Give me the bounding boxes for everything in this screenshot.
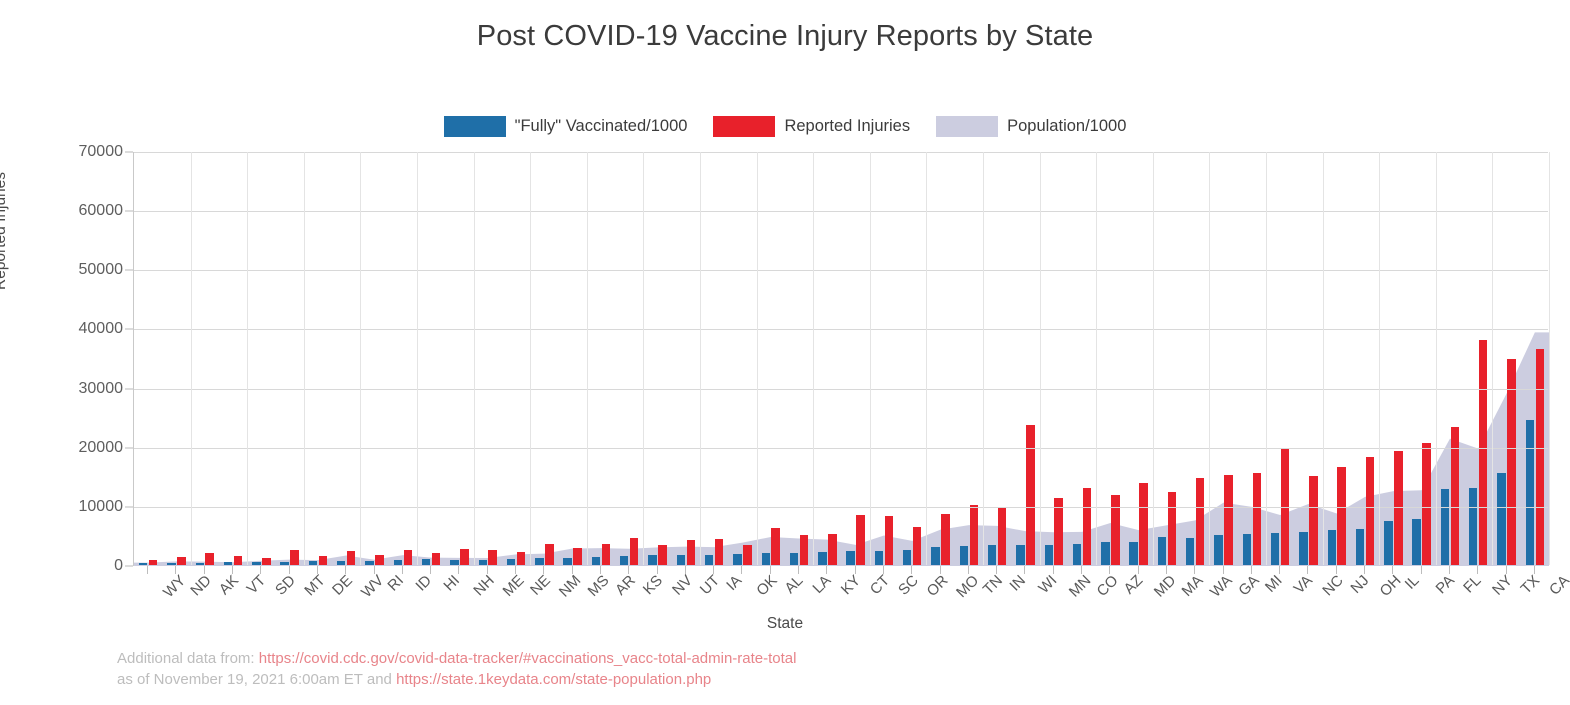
bar-injuries[interactable]	[1253, 473, 1261, 565]
x-gridline	[1379, 152, 1380, 565]
bar-group[interactable]	[1068, 152, 1096, 565]
bar-vaccinated[interactable]	[1101, 542, 1109, 565]
bar-vaccinated[interactable]	[1469, 488, 1477, 565]
bar-vaccinated[interactable]	[1214, 535, 1222, 565]
x-tick-label-ct: CT	[866, 572, 892, 598]
bar-vaccinated[interactable]	[507, 559, 515, 565]
bar-group[interactable]	[1209, 152, 1237, 565]
population-data-link[interactable]: https://state.1keydata.com/state-populat…	[396, 671, 711, 688]
y-gridline	[134, 329, 1548, 330]
bar-injuries[interactable]	[205, 553, 213, 565]
bar-group[interactable]	[247, 152, 275, 565]
bar-group[interactable]	[757, 152, 785, 565]
legend-swatch-population	[936, 116, 998, 137]
x-tick-label-nm: NM	[556, 572, 585, 601]
bar-group[interactable]	[445, 152, 473, 565]
bar-group[interactable]	[1436, 152, 1464, 565]
x-gridline	[757, 152, 758, 565]
bar-vaccinated[interactable]	[1271, 533, 1279, 565]
y-gridline	[134, 270, 1548, 271]
bar-vaccinated[interactable]	[1497, 473, 1505, 565]
bar-injuries[interactable]	[771, 528, 779, 565]
x-tick-label-ny: NY	[1489, 572, 1516, 599]
bar-vaccinated[interactable]	[337, 561, 345, 565]
plot-area	[133, 152, 1548, 566]
x-tick-label-id: ID	[412, 572, 435, 595]
x-tick-label-az: AZ	[1121, 572, 1147, 598]
bar-injuries[interactable]	[941, 514, 949, 565]
bar-group[interactable]	[842, 152, 870, 565]
x-tick-label-nd: ND	[188, 572, 215, 599]
x-tick-label-wi: WI	[1036, 572, 1061, 597]
bar-vaccinated[interactable]	[309, 561, 317, 565]
x-gridline	[926, 152, 927, 565]
bar-group[interactable]	[1125, 152, 1153, 565]
bar-injuries[interactable]	[998, 508, 1006, 565]
chart-legend: "Fully" Vaccinated/1000Reported Injuries…	[0, 116, 1570, 137]
bar-group[interactable]	[672, 152, 700, 565]
bar-vaccinated[interactable]	[280, 562, 288, 565]
bar-group[interactable]	[219, 152, 247, 565]
x-tick-label-sc: SC	[895, 572, 922, 599]
x-tick-label-va: VA	[1291, 572, 1316, 597]
legend-item-vaccinated[interactable]: "Fully" Vaccinated/1000	[444, 116, 688, 137]
x-tick-label-ut: UT	[697, 572, 723, 598]
x-tick-label-tx: TX	[1517, 572, 1543, 598]
bar-vaccinated[interactable]	[479, 560, 487, 565]
bar-injuries[interactable]	[970, 505, 978, 565]
y-tick-mark	[125, 329, 133, 330]
x-tick-label-nj: NJ	[1347, 572, 1372, 597]
bar-group[interactable]	[1294, 152, 1322, 565]
bar-group[interactable]	[1266, 152, 1294, 565]
x-tick-label-ak: AK	[216, 572, 242, 598]
bar-vaccinated[interactable]	[1243, 534, 1251, 565]
legend-swatch-vaccinated	[444, 116, 506, 137]
x-tick-label-pa: PA	[1432, 572, 1457, 597]
bar-vaccinated[interactable]	[394, 560, 402, 565]
bar-vaccinated[interactable]	[139, 563, 147, 565]
bar-group[interactable]	[1492, 152, 1520, 565]
y-tick-label: 40000	[79, 320, 124, 338]
x-gridline	[983, 152, 984, 565]
footnote-line-1: Additional data from: https://covid.cdc.…	[117, 648, 797, 669]
x-tick-label-la: LA	[809, 572, 834, 597]
bar-group[interactable]	[1464, 152, 1492, 565]
x-tick-label-fl: FL	[1460, 572, 1484, 596]
x-gridline	[1153, 152, 1154, 565]
x-axis-title: State	[0, 615, 1570, 633]
bar-injuries[interactable]	[460, 549, 468, 565]
bar-injuries[interactable]	[1394, 451, 1402, 565]
y-gridline	[134, 211, 1548, 212]
bar-group[interactable]	[162, 152, 190, 565]
x-gridline	[1492, 152, 1493, 565]
x-gridline	[643, 152, 644, 565]
bar-injuries[interactable]	[1366, 457, 1374, 565]
x-gridline	[813, 152, 814, 565]
y-tick-label: 10000	[79, 498, 124, 516]
chart-root: Post COVID-19 Vaccine Injury Reports by …	[0, 0, 1570, 705]
bar-vaccinated[interactable]	[960, 546, 968, 565]
bar-group[interactable]	[983, 152, 1011, 565]
x-tick-label-tn: TN	[980, 572, 1006, 598]
bar-vaccinated[interactable]	[224, 562, 232, 565]
bar-injuries[interactable]	[319, 556, 327, 565]
y-tick-mark	[125, 566, 133, 567]
y-tick-mark	[125, 506, 133, 507]
x-tick-label-mt: MT	[301, 572, 328, 599]
y-gridline	[134, 389, 1548, 390]
bar-vaccinated[interactable]	[450, 560, 458, 565]
bar-group[interactable]	[1040, 152, 1068, 565]
bar-vaccinated[interactable]	[1186, 538, 1194, 565]
bar-group[interactable]	[1153, 152, 1181, 565]
y-tick-mark	[125, 152, 133, 153]
x-gridline	[1436, 152, 1437, 565]
x-gridline	[700, 152, 701, 565]
bar-vaccinated[interactable]	[988, 545, 996, 565]
footnote: Additional data from: https://covid.cdc.…	[117, 648, 797, 690]
x-gridline	[247, 152, 248, 565]
bar-group[interactable]	[332, 152, 360, 565]
x-tick-label-me: ME	[499, 572, 527, 600]
x-tick-label-wy: WY	[160, 572, 189, 601]
bar-injuries[interactable]	[1139, 483, 1147, 565]
bar-injuries[interactable]	[347, 551, 355, 565]
x-tick-label-ma: MA	[1179, 572, 1207, 600]
bar-group[interactable]	[813, 152, 841, 565]
bar-vaccinated[interactable]	[196, 563, 204, 565]
bar-vaccinated[interactable]	[563, 558, 571, 565]
bar-group[interactable]	[474, 152, 502, 565]
x-gridline	[1549, 152, 1550, 565]
x-axis-labels: WYNDAKVTSDMTDEWVRIIDHINHMENENMMSARKSNVUT…	[133, 572, 1548, 616]
bar-group[interactable]	[276, 152, 304, 565]
bar-group[interactable]	[502, 152, 530, 565]
bar-injuries[interactable]	[602, 544, 610, 565]
bar-group[interactable]	[1238, 152, 1266, 565]
bar-group[interactable]	[1408, 152, 1436, 565]
plot-wrapper	[133, 152, 1548, 566]
bar-injuries[interactable]	[290, 550, 298, 565]
x-tick-label-md: MD	[1150, 572, 1179, 601]
x-tick-label-al: AL	[781, 572, 806, 597]
bar-group[interactable]	[559, 152, 587, 565]
bar-injuries[interactable]	[1507, 359, 1515, 565]
bar-injuries[interactable]	[1309, 476, 1317, 565]
bar-vaccinated[interactable]	[1328, 530, 1336, 565]
x-gridline	[870, 152, 871, 565]
bar-group[interactable]	[1379, 152, 1407, 565]
bar-injuries[interactable]	[545, 544, 553, 565]
bar-group[interactable]	[587, 152, 615, 565]
x-tick-label-or: OR	[924, 572, 952, 600]
bar-group[interactable]	[530, 152, 558, 565]
bar-vaccinated[interactable]	[620, 556, 628, 565]
footnote-line-2: as of November 19, 2021 6:00am ET and ht…	[117, 669, 797, 690]
bar-group[interactable]	[304, 152, 332, 565]
x-tick-label-wa: WA	[1207, 572, 1236, 601]
x-tick-label-ky: KY	[838, 572, 864, 598]
bar-injuries[interactable]	[1026, 425, 1034, 565]
bar-injuries[interactable]	[1083, 488, 1091, 565]
bar-injuries[interactable]	[573, 548, 581, 565]
bar-group[interactable]	[1181, 152, 1209, 565]
bar-vaccinated[interactable]	[1073, 544, 1081, 565]
bar-vaccinated[interactable]	[167, 563, 175, 565]
bar-group[interactable]	[1351, 152, 1379, 565]
legend-label-injuries: Reported Injuries	[784, 117, 910, 136]
bar-vaccinated[interactable]	[903, 550, 911, 565]
x-tick-label-nh: NH	[471, 572, 498, 599]
x-tick-label-il: IL	[1402, 572, 1423, 593]
bar-group[interactable]	[643, 152, 671, 565]
bar-injuries[interactable]	[262, 558, 270, 565]
bar-injuries[interactable]	[1337, 467, 1345, 565]
x-tick-label-ca: CA	[1546, 572, 1570, 599]
x-gridline	[1040, 152, 1041, 565]
bar-injuries[interactable]	[1536, 349, 1544, 565]
bar-group[interactable]	[389, 152, 417, 565]
y-axis-title: Reported Injuries	[0, 172, 10, 290]
footnote-line-1-prefix: Additional data from:	[117, 650, 259, 667]
y-tick-mark	[125, 388, 133, 389]
bar-group[interactable]	[870, 152, 898, 565]
y-tick-label: 60000	[79, 202, 124, 220]
bar-vaccinated[interactable]	[790, 553, 798, 565]
bar-injuries[interactable]	[404, 550, 412, 565]
bar-vaccinated[interactable]	[1356, 529, 1364, 565]
x-gridline	[360, 152, 361, 565]
bar-vaccinated[interactable]	[1384, 521, 1392, 565]
bar-vaccinated[interactable]	[592, 557, 600, 565]
legend-item-population[interactable]: Population/1000	[936, 116, 1126, 137]
bar-injuries[interactable]	[517, 552, 525, 565]
bar-group[interactable]	[955, 152, 983, 565]
bar-injuries[interactable]	[488, 550, 496, 565]
footnote-line-2-prefix: as of November 19, 2021 6:00am ET and	[117, 671, 396, 688]
bar-vaccinated[interactable]	[1526, 420, 1534, 565]
bar-vaccinated[interactable]	[1299, 532, 1307, 565]
bar-vaccinated[interactable]	[422, 559, 430, 565]
x-tick-label-hi: HI	[441, 572, 464, 595]
legend-swatch-injuries	[713, 116, 775, 137]
x-tick-label-mn: MN	[1066, 572, 1095, 601]
x-tick-label-vt: VT	[244, 572, 270, 598]
x-tick-label-ri: RI	[384, 572, 407, 595]
x-gridline	[1096, 152, 1097, 565]
x-tick-label-ks: KS	[640, 572, 666, 598]
x-tick-label-oh: OH	[1377, 572, 1405, 600]
bar-injuries[interactable]	[1111, 495, 1119, 565]
bar-injuries[interactable]	[828, 534, 836, 565]
y-tick-label: 30000	[79, 380, 124, 398]
y-gridline	[134, 448, 1548, 449]
x-tick-label-de: DE	[329, 572, 356, 599]
bar-vaccinated[interactable]	[818, 552, 826, 565]
y-tick-mark	[125, 270, 133, 271]
bar-group[interactable]	[1011, 152, 1039, 565]
bar-vaccinated[interactable]	[1129, 542, 1137, 565]
bar-vaccinated[interactable]	[1016, 545, 1024, 565]
bar-vaccinated[interactable]	[1158, 537, 1166, 565]
bar-injuries[interactable]	[149, 560, 157, 565]
x-gridline	[587, 152, 588, 565]
bar-injuries[interactable]	[630, 538, 638, 566]
bar-vaccinated[interactable]	[677, 555, 685, 565]
bar-vaccinated[interactable]	[705, 555, 713, 565]
bar-injuries[interactable]	[375, 555, 383, 565]
y-tick-label: 70000	[79, 143, 124, 161]
bar-group[interactable]	[417, 152, 445, 565]
x-gridline	[1323, 152, 1324, 565]
x-tick-label-ia: IA	[723, 572, 745, 594]
bar-vaccinated[interactable]	[1441, 489, 1449, 565]
bar-group[interactable]	[926, 152, 954, 565]
bar-injuries[interactable]	[658, 545, 666, 565]
legend-item-injuries[interactable]: Reported Injuries	[713, 116, 910, 137]
bar-vaccinated[interactable]	[875, 551, 883, 565]
bar-injuries[interactable]	[913, 527, 921, 565]
x-tick-label-ok: OK	[754, 572, 781, 599]
bar-injuries[interactable]	[1479, 340, 1487, 565]
x-tick-label-co: CO	[1094, 572, 1122, 600]
bar-injuries[interactable]	[800, 535, 808, 565]
bar-injuries[interactable]	[177, 557, 185, 565]
y-tick-mark	[125, 211, 133, 212]
y-tick-mark	[125, 447, 133, 448]
x-tick-label-nc: NC	[1320, 572, 1347, 599]
bar-group[interactable]	[728, 152, 756, 565]
y-tick-label: 0	[114, 557, 123, 575]
x-gridline	[304, 152, 305, 565]
bar-vaccinated[interactable]	[762, 553, 770, 565]
bar-injuries[interactable]	[687, 540, 695, 565]
bar-injuries[interactable]	[885, 516, 893, 565]
x-gridline	[530, 152, 531, 565]
x-tick-label-ms: MS	[584, 572, 612, 600]
bar-injuries[interactable]	[743, 545, 751, 565]
x-tick-label-wv: WV	[358, 572, 387, 601]
bar-vaccinated[interactable]	[365, 561, 373, 565]
x-tick-label-mi: MI	[1262, 572, 1286, 596]
bar-injuries[interactable]	[1168, 492, 1176, 565]
legend-label-vaccinated: "Fully" Vaccinated/1000	[515, 117, 688, 136]
legend-label-population: Population/1000	[1007, 117, 1126, 136]
x-tick-label-ne: NE	[527, 572, 554, 599]
bar-injuries[interactable]	[1054, 498, 1062, 565]
bar-group[interactable]	[360, 152, 388, 565]
chart-title: Post COVID-19 Vaccine Injury Reports by …	[0, 20, 1570, 53]
bar-injuries[interactable]	[432, 553, 440, 565]
x-tick-label-ar: AR	[612, 572, 639, 599]
bar-vaccinated[interactable]	[535, 558, 543, 565]
bar-vaccinated[interactable]	[648, 555, 656, 565]
bar-vaccinated[interactable]	[733, 554, 741, 565]
x-gridline	[1266, 152, 1267, 565]
x-tick-label-sd: SD	[272, 572, 299, 599]
x-gridline	[191, 152, 192, 565]
x-gridline	[417, 152, 418, 565]
bar-group[interactable]	[1096, 152, 1124, 565]
bar-vaccinated[interactable]	[846, 551, 854, 565]
bar-injuries[interactable]	[715, 539, 723, 565]
bar-injuries[interactable]	[1196, 478, 1204, 565]
x-gridline	[1209, 152, 1210, 565]
bar-group[interactable]	[785, 152, 813, 565]
bar-vaccinated[interactable]	[1412, 519, 1420, 565]
y-gridline	[134, 152, 1548, 153]
cdc-data-link[interactable]: https://covid.cdc.gov/covid-data-tracker…	[259, 650, 797, 667]
bar-group[interactable]	[898, 152, 926, 565]
bar-group[interactable]	[134, 152, 162, 565]
bar-injuries[interactable]	[1422, 443, 1430, 565]
bar-injuries[interactable]	[856, 515, 864, 565]
y-tick-label: 50000	[79, 261, 124, 279]
x-tick-label-in: IN	[1007, 572, 1030, 595]
bar-vaccinated[interactable]	[931, 547, 939, 565]
bar-group[interactable]	[191, 152, 219, 565]
y-tick-label: 20000	[79, 439, 124, 457]
bar-group[interactable]	[615, 152, 643, 565]
x-tick-label-ga: GA	[1235, 572, 1262, 599]
x-gridline	[474, 152, 475, 565]
x-tick-label-nv: NV	[669, 572, 696, 599]
y-gridline	[134, 507, 1548, 508]
bar-group[interactable]	[1323, 152, 1351, 565]
bar-vaccinated[interactable]	[252, 562, 260, 565]
x-tick-label-mo: MO	[953, 572, 982, 601]
bar-group[interactable]	[1521, 152, 1549, 565]
bar-injuries[interactable]	[1224, 475, 1232, 565]
bar-injuries[interactable]	[234, 556, 242, 565]
bar-group[interactable]	[700, 152, 728, 565]
bar-series-layer	[134, 152, 1548, 565]
bar-vaccinated[interactable]	[1045, 545, 1053, 565]
